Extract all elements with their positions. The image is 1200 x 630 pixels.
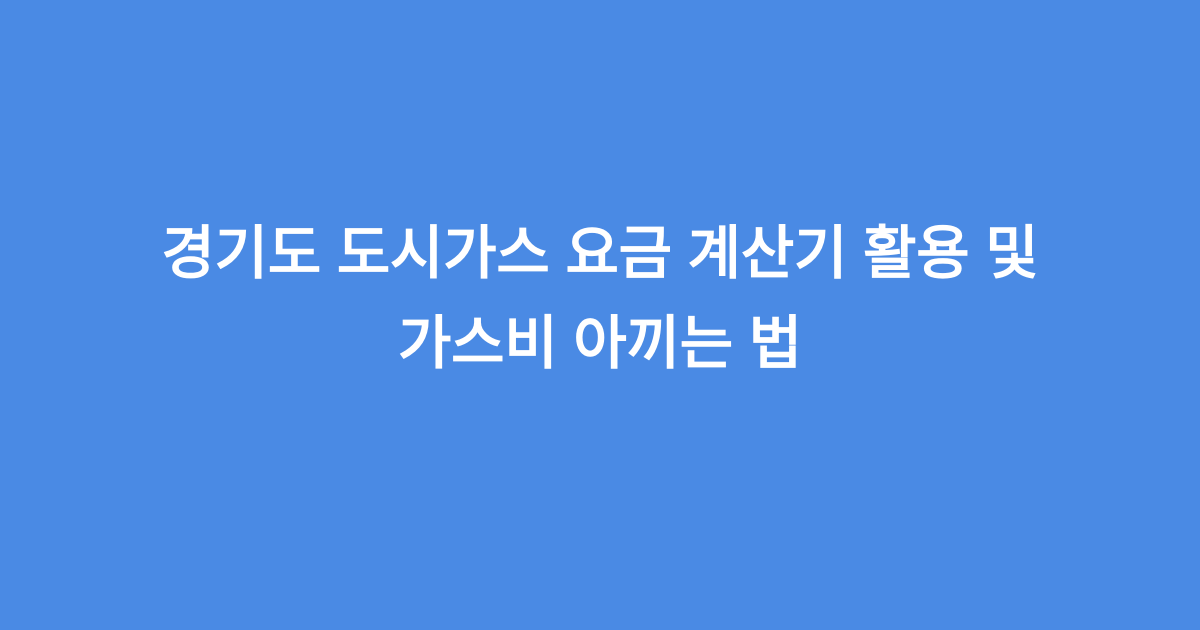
- page-title: 경기도 도시가스 요금 계산기 활용 및 가스비 아끼는 법: [70, 209, 1130, 389]
- title-block: 경기도 도시가스 요금 계산기 활용 및 가스비 아끼는 법: [70, 209, 1130, 421]
- title-card: 경기도 도시가스 요금 계산기 활용 및 가스비 아끼는 법: [0, 0, 1200, 630]
